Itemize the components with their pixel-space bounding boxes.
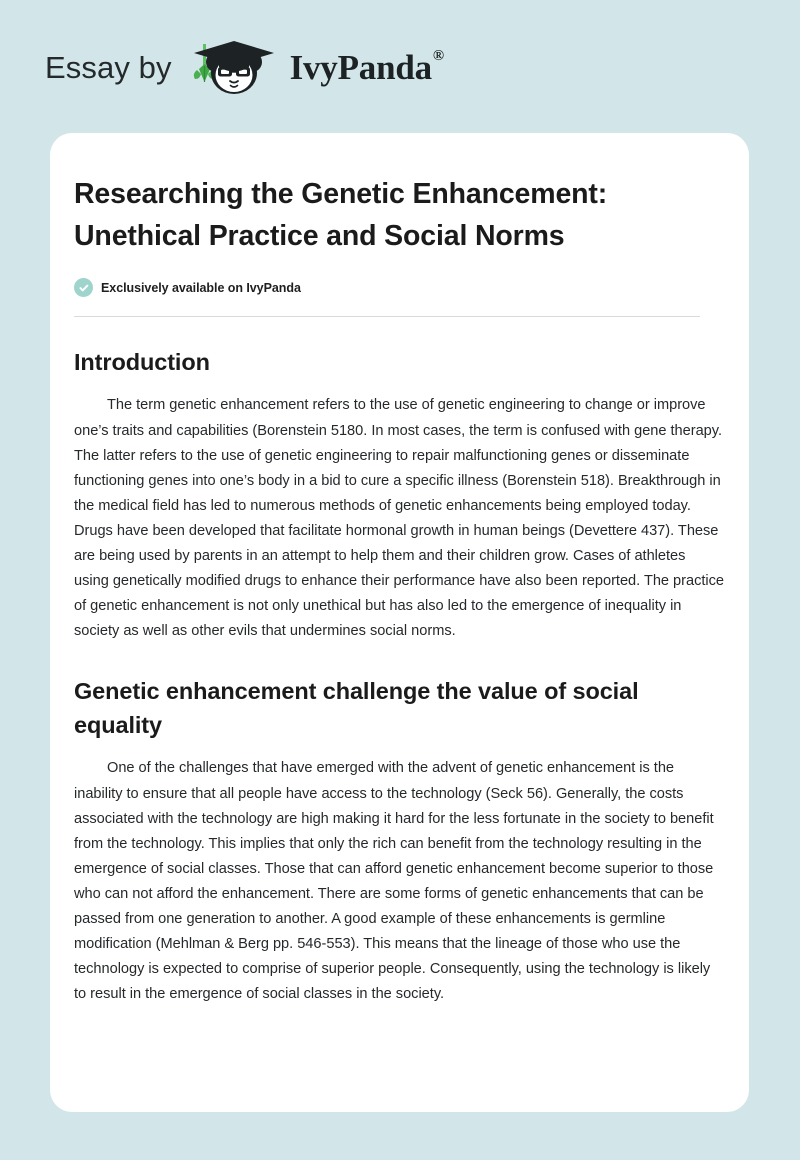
page-root: Essay by (0, 0, 800, 1160)
panda-graduate-icon (186, 36, 282, 98)
header-divider (74, 316, 700, 317)
section-heading-introduction: Introduction (74, 345, 714, 379)
brand-header[interactable]: Essay by (45, 36, 443, 98)
section-paragraph-social-equality: One of the challenges that have emerged … (74, 756, 724, 1002)
ivypanda-wordmark: IvyPanda® (290, 50, 443, 85)
document-content: Researching the Genetic Enhancement: Une… (50, 133, 749, 1002)
check-circle-icon (74, 278, 93, 297)
exclusive-badge-label: Exclusively available on IvyPanda (101, 282, 301, 295)
section-heading-social-equality: Genetic enhancement challenge the value … (74, 674, 714, 742)
section-paragraph-introduction: The term genetic enhancement refers to t… (74, 393, 724, 644)
essay-by-label: Essay by (45, 52, 172, 83)
registered-trademark-icon: ® (433, 48, 444, 64)
page-title: Researching the Genetic Enhancement: Une… (74, 173, 724, 257)
document-card: Researching the Genetic Enhancement: Une… (50, 133, 749, 1112)
wordmark-text: IvyPanda (290, 48, 432, 87)
exclusive-availability-badge: Exclusively available on IvyPanda (74, 278, 724, 297)
